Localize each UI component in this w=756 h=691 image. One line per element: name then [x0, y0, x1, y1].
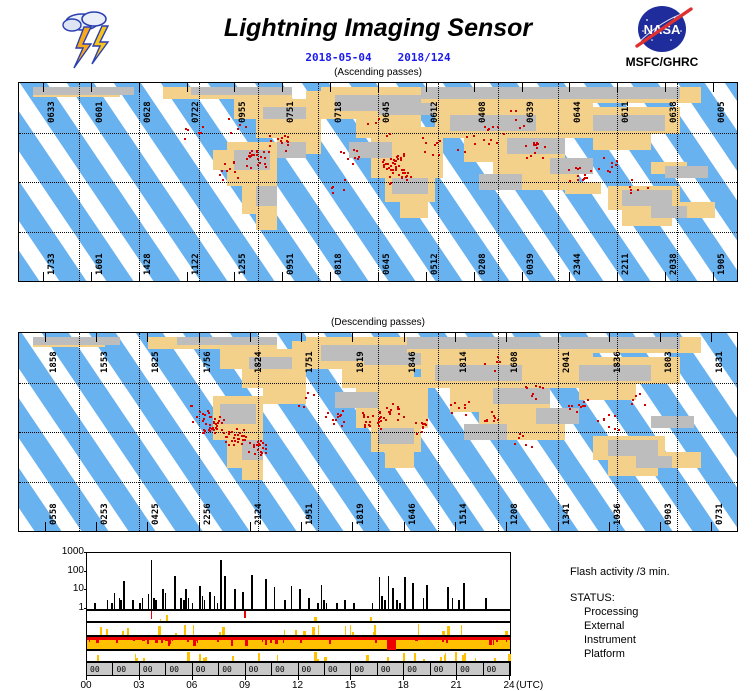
lightning-flash-marker [603, 157, 605, 159]
lightning-flash-marker [497, 126, 499, 128]
flash-y-tick-label: 100 [50, 565, 84, 576]
orbit-time-label: 0605 [717, 101, 727, 123]
lightning-flash-marker [248, 451, 250, 453]
lightning-flash-marker [515, 110, 517, 112]
lightning-flash-marker [263, 151, 265, 153]
orbit-tick [665, 83, 666, 92]
status-tick [387, 657, 388, 661]
flash-bar [291, 586, 293, 609]
status-row-external[interactable] [86, 622, 511, 636]
orbit-segment[interactable]: 00 [219, 663, 245, 675]
lightning-flash-marker [522, 435, 524, 437]
lightning-flash-marker [259, 444, 261, 446]
lightning-flash-marker [223, 432, 225, 434]
lightning-flash-marker [577, 168, 579, 170]
landmass [263, 381, 306, 405]
lightning-flash-marker [224, 163, 226, 165]
status-tick [494, 658, 497, 661]
orbit-segment[interactable]: 00 [378, 663, 404, 675]
orbit-segment-label: 00 [487, 665, 497, 674]
lightning-flash-marker [256, 444, 258, 446]
flash-bar [209, 592, 211, 609]
lightning-flash-marker [228, 433, 230, 435]
orbit-segment-label: 00 [460, 665, 470, 674]
lightning-flash-marker [223, 419, 225, 421]
orbit-time-label: 1601 [95, 253, 105, 275]
lightning-flash-marker [464, 407, 466, 409]
lightning-flash-marker [229, 168, 231, 170]
orbit-time-label: 2041 [562, 351, 572, 373]
lightning-flash-marker [250, 167, 252, 169]
orbit-segment[interactable]: 00 [272, 663, 298, 675]
lightning-flash-marker [385, 163, 387, 165]
utc-unit-label: (UTC) [516, 680, 543, 691]
lightning-flash-marker [425, 142, 427, 144]
orbit-time-bar[interactable]: 00000000000000000000000000000000 [86, 662, 511, 676]
orbit-tick [352, 333, 353, 342]
lightning-flash-marker [584, 174, 586, 176]
lightning-flash-marker [535, 398, 537, 400]
status-tick [418, 624, 419, 635]
orbit-tick [506, 522, 507, 531]
time-axis-label: 09 [239, 680, 250, 691]
lightning-flash-marker [392, 403, 394, 405]
lightning-flash-marker [284, 135, 286, 137]
lightning-flash-marker [214, 432, 216, 434]
orbit-segment[interactable]: 00 [404, 663, 430, 675]
descending-passes-map[interactable]: 1858155318251756182417511819184618141608… [18, 332, 738, 532]
time-axis: 000306091215182124 [86, 676, 511, 690]
orbit-time-label: 1255 [238, 253, 248, 275]
lightning-flash-marker [298, 405, 300, 407]
flash-activity-plot[interactable] [86, 552, 511, 610]
lightning-flash-marker [385, 419, 387, 421]
status-tick [303, 631, 306, 635]
time-axis-label: 03 [133, 680, 144, 691]
status-alert-tick [446, 637, 448, 643]
orbit-segment-label: 00 [328, 665, 338, 674]
orbit-segment-label: 00 [354, 665, 364, 674]
status-tick [314, 617, 317, 621]
orbit-segment[interactable]: 00 [457, 663, 483, 675]
lightning-flash-marker [439, 140, 441, 142]
lightning-flash-marker [313, 394, 315, 396]
orbit-tick [330, 83, 331, 92]
status-alert-tick [356, 637, 358, 640]
flash-bar [185, 589, 187, 609]
lightning-flash-marker [484, 420, 486, 422]
orbit-segment[interactable]: 00 [140, 663, 166, 675]
lightning-flash-marker [490, 139, 492, 141]
longitude-gridline [199, 333, 200, 531]
orbit-time-label: 0208 [478, 253, 488, 275]
legend-status-processing: Processing [584, 606, 638, 618]
orbit-time-label: 0408 [478, 101, 488, 123]
lightning-flash-marker [436, 142, 438, 144]
status-tick [508, 654, 511, 661]
lightning-flash-marker [354, 157, 356, 159]
orbit-segment-label: 00 [196, 665, 206, 674]
landmass-outside-coverage [335, 392, 378, 408]
flash-bar [155, 600, 157, 609]
ascending-passes-caption: (Ascending passes) [0, 67, 756, 78]
lightning-flash-marker [503, 133, 505, 135]
orbit-tick [199, 522, 200, 531]
flash-y-tick-label: 1 [50, 602, 84, 613]
lightning-flash-marker [536, 142, 538, 144]
orbit-tick [426, 272, 427, 281]
status-tick [106, 629, 107, 635]
lightning-flash-marker [390, 158, 392, 160]
lightning-flash-marker [426, 419, 428, 421]
lightning-flash-marker [535, 144, 537, 146]
orbit-time-label: 1341 [562, 503, 572, 525]
lightning-flash-marker [569, 180, 571, 182]
flash-bar [392, 588, 394, 609]
orbit-segment[interactable]: 00 [325, 663, 351, 675]
lightning-flash-marker [390, 409, 392, 411]
status-alert-tick [96, 637, 99, 643]
orbit-time-label: 1831 [715, 351, 725, 373]
orbit-time-label: 0645 [382, 253, 392, 275]
orbit-tick [455, 333, 456, 342]
lightning-flash-marker [630, 192, 632, 194]
flash-bar [123, 581, 125, 609]
status-tick [160, 619, 161, 621]
lightning-flash-marker [253, 154, 255, 156]
lightning-flash-marker [228, 431, 230, 433]
lightning-flash-marker [454, 402, 456, 404]
time-axis-label: 06 [186, 680, 197, 691]
orbit-segment[interactable]: 00 [193, 663, 219, 675]
orbit-time-label: 2344 [573, 253, 583, 275]
lightning-flash-marker [343, 421, 345, 423]
flash-bar [234, 589, 236, 609]
lightning-flash-marker [387, 163, 389, 165]
flash-bar [321, 585, 323, 609]
flash-bar [284, 600, 286, 609]
lightning-flash-marker [608, 414, 610, 416]
lightning-flash-marker [287, 144, 289, 146]
status-alert-tick [147, 637, 149, 644]
lightning-flash-marker [226, 170, 228, 172]
lightning-flash-marker [281, 142, 283, 144]
flash-bar [381, 596, 383, 609]
lightning-flash-marker [219, 174, 221, 176]
lightning-flash-marker [386, 135, 388, 137]
orbit-segment[interactable]: 00 [299, 663, 325, 675]
flash-bar [204, 600, 206, 609]
ascending-passes-map[interactable]: 0633060106280722095507510718064506120408… [18, 82, 738, 282]
lightning-flash-marker [468, 401, 470, 403]
orbit-tick [378, 272, 379, 281]
orbit-time-label: 2038 [669, 253, 679, 275]
day-of-year-value: 2018/124 [398, 51, 451, 64]
lightning-flash-marker [647, 187, 649, 189]
lightning-flash-marker [571, 405, 573, 407]
lightning-flash-marker [216, 425, 218, 427]
status-tick [462, 655, 464, 661]
orbit-time-label: 0628 [143, 101, 153, 123]
orbit-segment-label: 00 [222, 665, 232, 674]
lightning-flash-marker [234, 171, 236, 173]
lightning-flash-marker [303, 406, 305, 408]
lightning-flash-marker [377, 422, 379, 424]
lightning-flash-marker [184, 138, 186, 140]
longitude-gridline [378, 83, 379, 281]
lightning-flash-marker [261, 452, 263, 454]
status-tick [284, 630, 285, 635]
lightning-flash-marker [265, 448, 267, 450]
lightning-flash-marker [268, 151, 270, 153]
landmass-outside-coverage [636, 456, 672, 468]
descending-passes-caption: (Descending passes) [0, 317, 756, 328]
orbit-time-label: 0612 [430, 101, 440, 123]
status-alert-tick [300, 637, 302, 643]
lightning-flash-marker [637, 189, 639, 191]
lightning-flash-marker [398, 413, 400, 415]
lightning-flash-marker [395, 168, 397, 170]
orbit-time-label: 0951 [286, 253, 296, 275]
orbit-tick [250, 522, 251, 531]
lightning-flash-marker [230, 132, 232, 134]
status-alert-tick [217, 637, 220, 642]
orbit-tick [96, 522, 97, 531]
orbit-time-label: 1814 [459, 351, 469, 373]
flash-bar [192, 603, 194, 609]
status-alert-tick [375, 637, 377, 643]
status-alert-tick [165, 637, 168, 641]
lightning-flash-marker [632, 399, 634, 401]
lightning-flash-marker [250, 155, 252, 157]
orbit-time-label: 0903 [664, 503, 674, 525]
lightning-flash-marker [200, 132, 202, 134]
flash-bar [94, 603, 96, 609]
orbit-time-label: 1553 [100, 351, 110, 373]
orbit-tick [234, 83, 235, 92]
lightning-flash-marker [531, 446, 533, 448]
orbit-tick [43, 83, 44, 92]
orbit-tick [711, 522, 712, 531]
status-alert-tick [415, 637, 418, 641]
orbit-tick [282, 83, 283, 92]
status-tick [258, 653, 260, 661]
lightning-flash-marker [380, 428, 382, 430]
orbit-time-label: 0639 [526, 101, 536, 123]
lightning-flash-marker [542, 387, 544, 389]
status-tick [122, 631, 123, 635]
orbit-tick [617, 83, 618, 92]
lightning-flash-marker [465, 414, 467, 416]
lightning-flash-marker [287, 136, 289, 138]
lightning-flash-marker [352, 163, 354, 165]
lightning-flash-marker [262, 442, 264, 444]
lightning-flash-marker [219, 416, 221, 418]
status-tick [445, 653, 446, 661]
lightning-flash-marker [241, 435, 243, 437]
lightning-flash-marker [192, 421, 194, 423]
lightning-flash-marker [518, 437, 520, 439]
landmass-outside-coverage [407, 337, 680, 349]
lightning-flash-marker [488, 128, 490, 130]
orbit-segment[interactable]: 00 [166, 663, 192, 675]
status-alert-tick [442, 637, 444, 642]
lightning-flash-marker [583, 401, 585, 403]
lightning-flash-marker [416, 433, 418, 435]
lightning-flash-marker [265, 452, 267, 454]
lightning-flash-marker [260, 156, 262, 158]
orbit-segment-label: 00 [434, 665, 444, 674]
lightning-flash-marker [367, 123, 369, 125]
legend-status-instrument: Instrument [584, 634, 636, 646]
status-tick [461, 625, 462, 635]
orbit-tick [234, 272, 235, 281]
status-row-platform[interactable] [86, 650, 511, 662]
flash-y-tick-mark [84, 608, 87, 609]
legend-status-external: External [584, 620, 624, 632]
lightning-flash-marker [611, 162, 613, 164]
lightning-flash-marker [491, 411, 493, 413]
orbit-tick [301, 333, 302, 342]
lightning-flash-marker [265, 444, 267, 446]
orbit-segment[interactable]: 00 [484, 663, 510, 675]
longitude-gridline [438, 333, 439, 531]
status-tick [314, 652, 317, 661]
lightning-flash-marker [401, 177, 403, 179]
lightning-flash-marker [257, 158, 259, 160]
orbit-segment[interactable]: 00 [87, 663, 113, 675]
status-tick [442, 631, 445, 635]
lightning-flash-marker [341, 425, 343, 427]
orbit-tick [711, 333, 712, 342]
lightning-flash-marker [249, 152, 251, 154]
orbit-segment[interactable]: 00 [113, 663, 139, 675]
lightning-flash-marker [333, 423, 335, 425]
flash-bar [458, 600, 460, 609]
flash-bar [396, 600, 398, 609]
orbit-segment-label: 00 [116, 665, 126, 674]
lightning-flash-marker [380, 420, 382, 422]
lightning-flash-marker [569, 408, 571, 410]
status-tick [414, 653, 416, 661]
lightning-flash-marker [530, 155, 532, 157]
status-row-processing[interactable] [86, 610, 511, 622]
landmass-outside-coverage [450, 115, 536, 131]
orbit-segment[interactable]: 00 [431, 663, 457, 675]
lightning-flash-marker [244, 439, 246, 441]
landmass-outside-coverage [435, 365, 521, 381]
lightning-flash-marker [525, 444, 527, 446]
lightning-flash-marker [497, 356, 499, 358]
lightning-flash-marker [525, 386, 527, 388]
orbit-tick [713, 83, 714, 92]
status-tick [143, 658, 145, 661]
flash-y-tick-label: 10 [50, 583, 84, 594]
lightning-flash-marker [576, 411, 578, 413]
flash-y-tick-label: 1000 [50, 546, 84, 557]
landmass-outside-coverage [277, 142, 306, 158]
orbit-tick [45, 333, 46, 342]
orbit-tick [474, 272, 475, 281]
lightning-flash-marker [424, 151, 426, 153]
lightning-flash-marker [389, 133, 391, 135]
lightning-flash-marker [383, 166, 385, 168]
status-alert-tick [138, 637, 141, 640]
flash-bar [336, 603, 338, 609]
orbit-time-label: 1514 [459, 503, 469, 525]
orbit-time-label: 1208 [510, 503, 520, 525]
orbit-segment[interactable]: 00 [246, 663, 272, 675]
lightning-flash-marker [397, 155, 399, 157]
orbit-tick [474, 83, 475, 92]
status-row-instrument[interactable] [86, 636, 511, 650]
status-tick [187, 652, 190, 661]
orbit-tick [91, 83, 92, 92]
lightning-flash-marker [392, 172, 394, 174]
orbit-segment-label: 00 [249, 665, 259, 674]
lightning-flash-marker [450, 404, 452, 406]
flash-bar [111, 603, 113, 609]
orbit-time-label: 0751 [286, 101, 296, 123]
status-tick [100, 627, 103, 635]
orbit-tick [660, 333, 661, 342]
lightning-flash-marker [403, 169, 405, 171]
lightning-flash-marker [228, 118, 230, 120]
flash-bar [199, 586, 201, 609]
lightning-flash-marker [307, 392, 309, 394]
status-alert-tick [275, 637, 278, 644]
lightning-flash-marker [241, 443, 243, 445]
orbit-tick [660, 522, 661, 531]
time-axis-label: 21 [451, 680, 462, 691]
lightning-flash-marker [217, 422, 219, 424]
flash-bar [217, 603, 219, 609]
lightning-flash-marker [644, 404, 646, 406]
status-tick [277, 655, 279, 661]
orbit-tick [147, 522, 148, 531]
lightning-flash-marker [367, 416, 369, 418]
orbit-segment[interactable]: 00 [351, 663, 377, 675]
lightning-flash-marker [523, 125, 525, 127]
time-axis-label: 24 [503, 680, 514, 691]
lightning-flash-marker [221, 170, 223, 172]
lightning-flash-marker [614, 415, 616, 417]
lightning-flash-marker [204, 414, 206, 416]
lightning-flash-marker [332, 186, 334, 188]
orbit-tick [147, 333, 148, 342]
landmass-outside-coverage [608, 440, 658, 456]
orbit-tick [301, 522, 302, 531]
lightning-flash-marker [615, 164, 617, 166]
lightning-flash-marker [242, 439, 244, 441]
lightning-flash-marker [305, 397, 307, 399]
instrument-outage-block [387, 637, 396, 650]
landmass-outside-coverage [191, 87, 292, 95]
lightning-flash-marker [488, 143, 490, 145]
lightning-flash-marker [199, 411, 201, 413]
landmass-outside-coverage [378, 428, 414, 444]
lightning-flash-marker [207, 410, 209, 412]
status-tick [447, 626, 450, 635]
orbit-tick [96, 333, 97, 342]
orbit-tick [558, 333, 559, 342]
lightning-flash-marker [344, 179, 346, 181]
lightning-flash-marker [364, 426, 366, 428]
lightning-flash-marker [390, 182, 392, 184]
lightning-flash-marker [631, 403, 633, 405]
orbit-time-label: 1756 [203, 351, 213, 373]
lightning-flash-marker [424, 423, 426, 425]
